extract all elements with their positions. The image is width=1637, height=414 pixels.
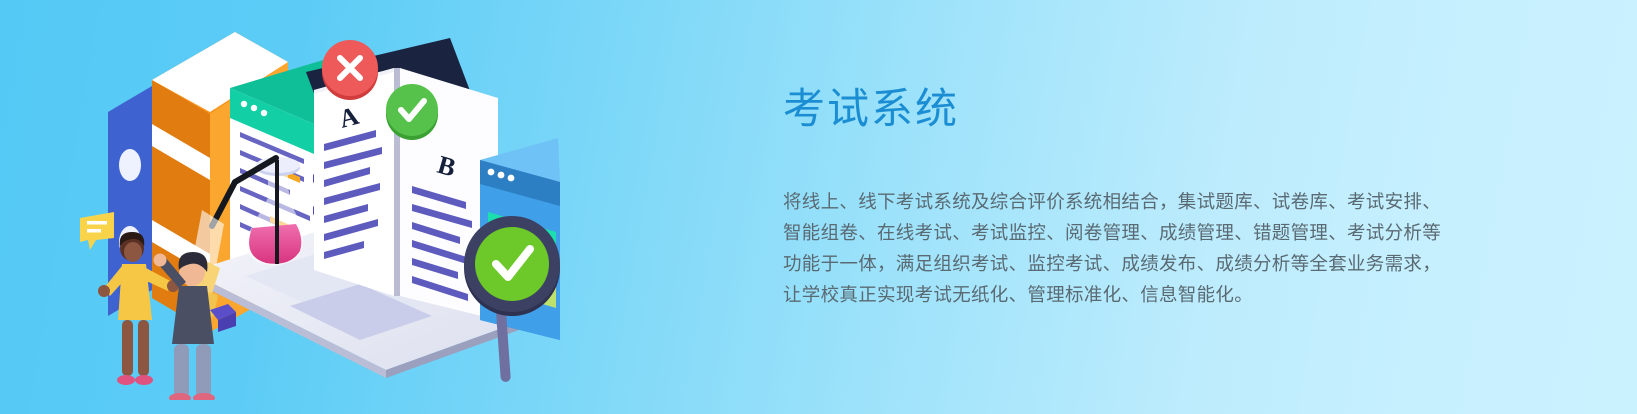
isometric-exam-system-illustration: A B <box>60 20 680 400</box>
page-title: 考试系统 <box>783 80 1503 138</box>
description-line: 功能于一体，满足组织考试、监控考试、成绩发布、成绩分析等全套业务需求， <box>783 248 1483 279</box>
description-line: 智能组卷、在线考试、考试监控、阅卷管理、成绩管理、错题管理、考试分析等 <box>783 217 1483 248</box>
wrong-answer-badge <box>322 40 378 100</box>
exam-system-banner: A B <box>0 0 1637 414</box>
banner-description: 将线上、线下考试系统及综合评价系统相结合，集试题库、试卷库、考试安排、 智能组卷… <box>783 186 1483 310</box>
banner-text-block: 考试系统 将线上、线下考试系统及综合评价系统相结合，集试题库、试卷库、考试安排、… <box>783 80 1503 310</box>
description-line: 让学校真正实现考试无纸化、管理标准化、信息智能化。 <box>783 279 1483 310</box>
magnifier-check-icon <box>464 216 560 382</box>
description-line: 将线上、线下考试系统及综合评价系统相结合，集试题库、试卷库、考试安排、 <box>783 186 1483 217</box>
correct-answer-badge <box>386 84 438 140</box>
